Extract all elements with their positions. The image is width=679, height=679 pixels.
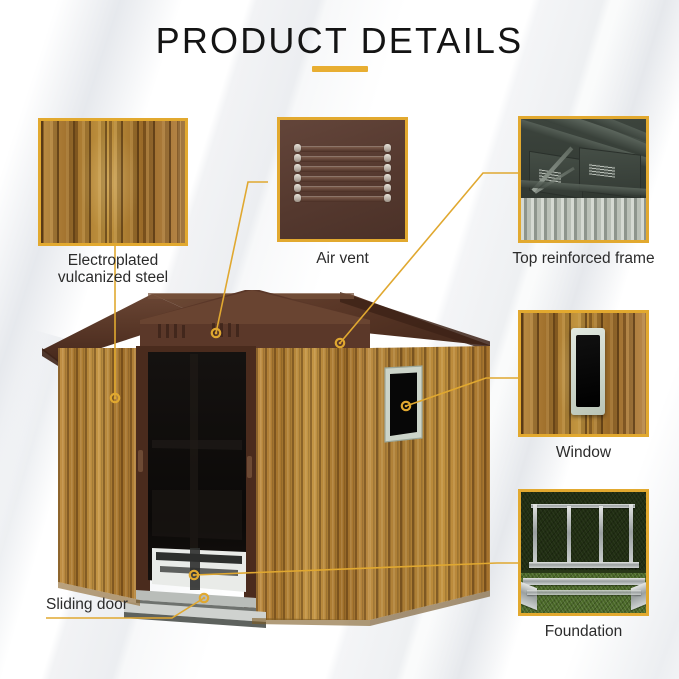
- window-frame: [571, 328, 605, 415]
- shed-product-illustration: [40, 290, 490, 630]
- callout-label-electroplated-vulcanized-steel: Electroplated vulcanized steel: [28, 252, 198, 286]
- callout-label-sliding-door: Sliding door: [46, 596, 128, 614]
- callout-window[interactable]: Window: [518, 310, 649, 437]
- electroplated-steel-swatch-image: [38, 118, 188, 246]
- callout-label-air-vent: Air vent: [316, 250, 369, 267]
- foundation-image: [518, 489, 649, 616]
- callout-top-reinforced-frame[interactable]: Top reinforced frame: [518, 116, 649, 243]
- callout-label-top-reinforced-frame: Top reinforced frame: [512, 250, 654, 267]
- label-line-2: vulcanized steel: [28, 269, 198, 286]
- window-glass: [576, 335, 600, 406]
- callout-label-foundation: Foundation: [545, 623, 623, 640]
- title-accent-rule: [312, 66, 368, 72]
- callout-air-vent[interactable]: Air vent: [277, 117, 408, 242]
- air-vent-image: [277, 117, 408, 242]
- callout-electroplated-vulcanized-steel[interactable]: Electroplated vulcanized steel: [38, 118, 188, 246]
- foundation-photo: [521, 492, 646, 613]
- callout-sliding-door[interactable]: Sliding door: [46, 596, 128, 614]
- product-details-infographic: PRODUCT DETAILS: [0, 0, 679, 679]
- label-line-1: Electroplated: [28, 252, 198, 269]
- top-reinforced-frame-image: [518, 116, 649, 243]
- roof-frame-photo: [521, 119, 646, 240]
- window-image: [518, 310, 649, 437]
- vent-face: [280, 120, 405, 239]
- callout-label-window: Window: [556, 444, 611, 461]
- callout-foundation[interactable]: Foundation: [518, 489, 649, 616]
- page-title: PRODUCT DETAILS: [0, 20, 679, 62]
